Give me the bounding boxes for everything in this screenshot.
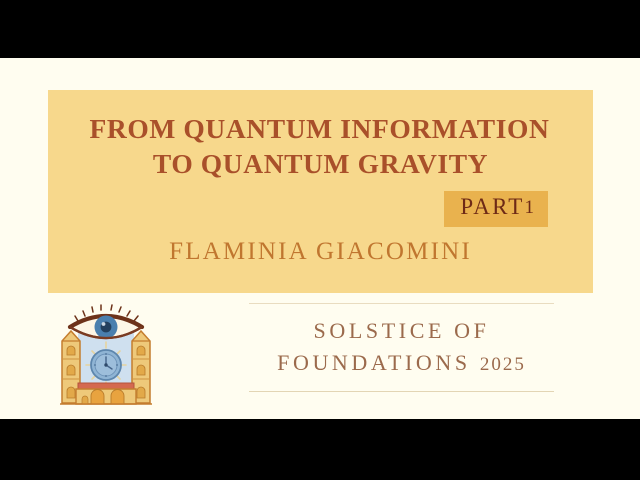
slide-title-line-1: FROM QUANTUM INFORMATION bbox=[72, 112, 567, 146]
speaker-name: FLAMINIA GIACOMINI bbox=[74, 238, 567, 266]
event-name-line-1: SOLSTICE OF bbox=[249, 315, 554, 347]
event-lines: SOLSTICE OF FOUNDATIONS 2025 bbox=[249, 304, 554, 391]
letterbox-bar-bottom bbox=[0, 419, 640, 480]
event-logo bbox=[54, 303, 158, 409]
event-year: 2025 bbox=[480, 354, 526, 375]
letterbox-bar-top bbox=[0, 0, 640, 58]
presentation-slide: FROM QUANTUM INFORMATION TO QUANTUM GRAV… bbox=[0, 58, 640, 419]
event-title-block: SOLSTICE OF FOUNDATIONS 2025 bbox=[249, 303, 554, 392]
video-player-frame: FROM QUANTUM INFORMATION TO QUANTUM GRAV… bbox=[0, 0, 640, 480]
title-card: FROM QUANTUM INFORMATION TO QUANTUM GRAV… bbox=[48, 90, 593, 293]
cathedral-eye-icon bbox=[54, 303, 158, 409]
event-name-text: FOUNDATIONS bbox=[277, 350, 471, 375]
divider-bottom bbox=[249, 391, 554, 392]
part-badge-row: PART1 bbox=[74, 191, 567, 227]
part-badge-number: 1 bbox=[525, 197, 535, 218]
part-badge-label: PART bbox=[460, 194, 524, 219]
slide-title-line-2: TO QUANTUM GRAVITY bbox=[74, 147, 567, 181]
part-badge: PART1 bbox=[444, 191, 548, 227]
event-name-line-2: FOUNDATIONS 2025 bbox=[249, 347, 554, 381]
